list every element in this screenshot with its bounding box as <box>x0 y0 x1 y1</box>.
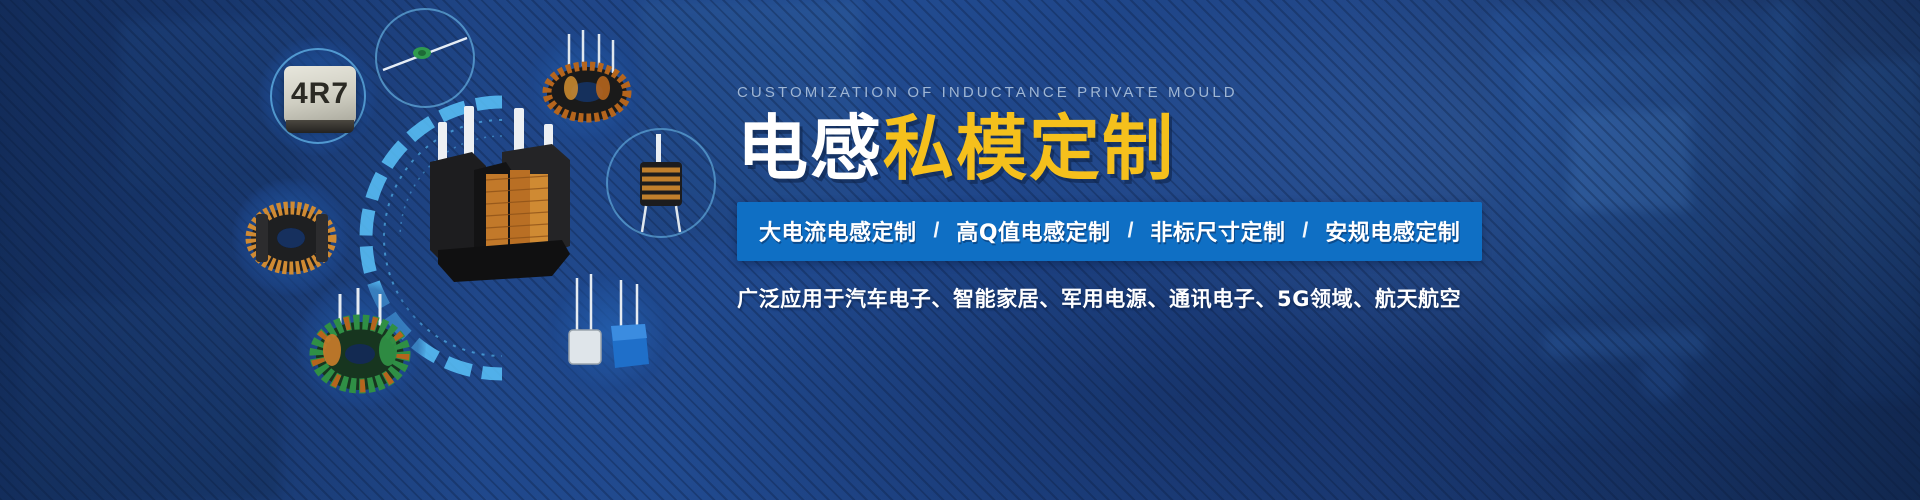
product-node-green-toroid <box>296 280 426 410</box>
smd-power-inductor: 4R7 <box>284 66 356 124</box>
inductance-custom-mould-banner: 4R7 <box>0 0 1920 500</box>
product-node-copper-toroid <box>232 178 350 296</box>
feature-separator: / <box>1285 219 1325 243</box>
feature-item-nonstandard-size[interactable]: 非标尺寸定制 <box>1150 215 1285 247</box>
copper-clad-toroid <box>232 178 350 296</box>
feature-item-high-current[interactable]: 大电流电感定制 <box>759 215 917 247</box>
english-tagline: CUSTOMIZATION OF INDUCTANCE PRIVATE MOUL… <box>737 84 1867 101</box>
page-title: 电感私模定制 <box>737 111 1867 188</box>
green-toroidal-inductor <box>296 280 426 410</box>
feature-list-bar: 大电流电感定制 / 高Q值电感定制 / 非标尺寸定制 / 安规电感定制 <box>737 202 1482 261</box>
product-node-radial-inductors <box>545 268 675 398</box>
headline-part-white: 电感 <box>737 107 883 190</box>
feature-item-safety-regulation[interactable]: 安规电感定制 <box>1325 215 1460 247</box>
product-node-bobbin-choke <box>606 128 716 238</box>
bobbin-choke-coil <box>606 128 716 238</box>
air-core-coil <box>375 8 475 108</box>
product-node-smd-inductor: 4R7 <box>258 36 378 156</box>
product-node-air-core-coil <box>375 8 475 108</box>
feature-item-high-q[interactable]: 高Q值电感定制 <box>956 215 1110 247</box>
radial-lead-inductor <box>545 268 675 398</box>
feature-separator: / <box>1111 219 1151 243</box>
application-description: 广泛应用于汽车电子、智能家居、军用电源、通讯电子、5G领域、航天航空 <box>737 283 1867 313</box>
smd-chip-label: 4R7 <box>284 77 356 111</box>
headline-part-gold: 私模定制 <box>883 107 1175 190</box>
feature-separator: / <box>917 219 957 243</box>
banner-text-block: CUSTOMIZATION OF INDUCTANCE PRIVATE MOUL… <box>737 84 1867 313</box>
